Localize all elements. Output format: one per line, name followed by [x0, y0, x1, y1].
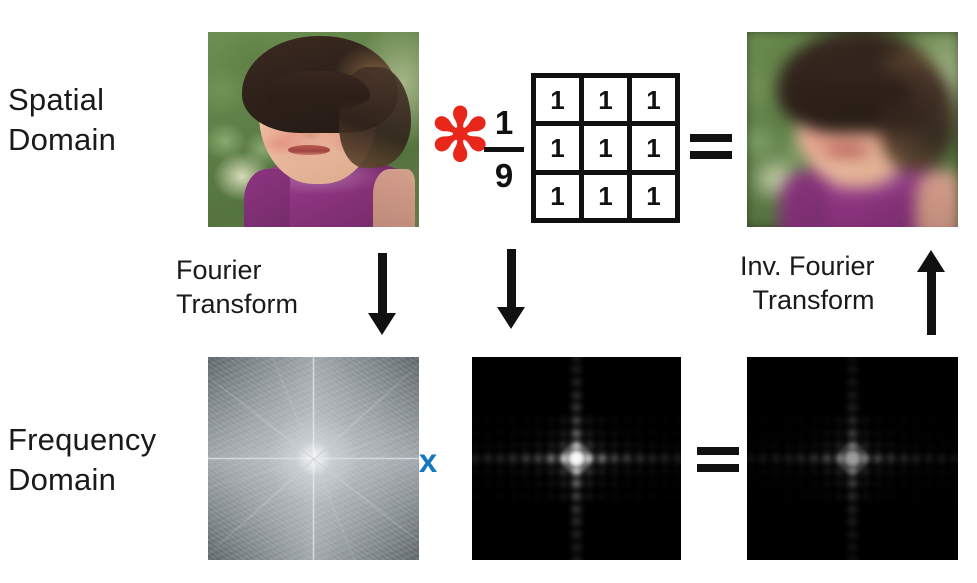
sinc-lobe [848, 417, 857, 424]
sinc-lobe [836, 480, 843, 487]
sinc-lobe [484, 417, 491, 424]
photo-mouth [826, 146, 871, 156]
sinc-lobe [598, 442, 605, 449]
sinc-lobe [951, 480, 958, 487]
photo-render [208, 32, 419, 227]
sinc-lobe [661, 454, 669, 464]
sinc-lobe [572, 357, 581, 361]
sinc-lobe [951, 430, 958, 437]
sinc-lobe [926, 493, 933, 500]
image-input-spectrum [208, 357, 419, 560]
sinc-lobe [848, 379, 857, 386]
sinc-lobe [875, 430, 882, 437]
arrow-shaft [927, 269, 936, 335]
sinc-lobe [662, 480, 669, 487]
sinc-lobe [887, 480, 894, 487]
sinc-lobe [572, 392, 581, 399]
sinc-lobe [611, 468, 618, 475]
sinc-lobe [497, 454, 505, 464]
sinc-lobe [785, 480, 792, 487]
sinc-lobe [772, 417, 779, 424]
sinc-lobe [747, 468, 754, 475]
sinc-lobe [926, 480, 933, 487]
fraction-bar [484, 147, 524, 152]
sinc-lobe [636, 480, 643, 487]
sinc-lobe [662, 417, 669, 424]
sinc-lobe [823, 442, 830, 449]
arrow-head [917, 250, 945, 272]
sinc-lobe [497, 493, 504, 500]
sinc-lobe [510, 468, 517, 475]
sinc-lobe [572, 379, 581, 386]
sinc-lobe [484, 480, 491, 487]
sinc-lobe [760, 468, 767, 475]
sinc-lobe [811, 480, 818, 487]
sinc-lobe [823, 454, 831, 464]
sinc-lobe [939, 493, 946, 500]
sinc-lobe [662, 442, 669, 449]
sinc-lobe [611, 480, 618, 487]
sinc-lobe [760, 430, 767, 437]
equals-sign-frequency [697, 447, 739, 473]
sinc-lobe [510, 480, 517, 487]
sinc-lobe [823, 417, 830, 424]
sinc-lobe [611, 442, 618, 449]
sinc-lobe [887, 442, 894, 449]
sinc-lobe [848, 531, 857, 538]
sinc-lobe [510, 493, 517, 500]
sinc-lobe [900, 493, 907, 500]
sinc-lobe [848, 366, 857, 373]
sinc-lobe [649, 468, 656, 475]
sinc-lobe [875, 468, 882, 475]
sinc-lobe [674, 442, 681, 449]
sinc-lobe [472, 493, 479, 500]
sinc-lobe [848, 468, 857, 475]
sinc-lobe [785, 468, 792, 475]
sinc-lobe [586, 493, 593, 500]
sinc-lobe [939, 442, 946, 449]
sinc-lobe [823, 430, 830, 437]
fraction-denominator: 9 [495, 157, 513, 195]
sinc-lobe [848, 442, 857, 449]
sinc-lobe [810, 454, 818, 464]
sinc-lobe [560, 442, 567, 449]
sinc-lobe [522, 454, 530, 464]
sinc-lobe [548, 468, 555, 475]
sinc-lobe [848, 404, 857, 411]
sinc-lobe [598, 454, 606, 464]
photo-bangs [265, 71, 371, 110]
sinc-lobe [913, 442, 920, 449]
kernel-scalar-fraction: 1 9 [483, 79, 525, 219]
sinc-lobe [913, 493, 920, 500]
sinc-lobe [926, 442, 933, 449]
sinc-lobe [548, 493, 555, 500]
sinc-lobe [636, 417, 643, 424]
sinc-lobe [484, 493, 491, 500]
sinc-lobe [611, 493, 618, 500]
convolution-asterisk-icon: ✻ [430, 108, 476, 164]
sinc-lobe [939, 480, 946, 487]
sinc-lobe [586, 480, 593, 487]
sinc-lobe [484, 442, 491, 449]
sinc-lobe [900, 454, 908, 464]
sinc-lobe [572, 544, 581, 551]
sinc-lobe [572, 531, 581, 538]
sinc-lobe [472, 430, 479, 437]
sinc-lobe [624, 493, 631, 500]
sinc-lobe [900, 430, 907, 437]
sinc-lobe [535, 442, 542, 449]
sinc-lobe [900, 468, 907, 475]
arrow-down-fourier-transform [366, 253, 398, 335]
sinc-lobe [862, 430, 869, 437]
sinc-lobe [572, 556, 581, 560]
equals-bar [690, 151, 732, 159]
sinc-lobe [798, 430, 805, 437]
sinc-lobe [560, 480, 567, 487]
sinc-lobe [611, 430, 618, 437]
sinc-lobe [875, 493, 882, 500]
sinc-lobe [747, 442, 754, 449]
sinc-lobe [862, 480, 869, 487]
sinc-lobe [662, 430, 669, 437]
sinc-lobe [951, 454, 958, 464]
sinc-lobe [913, 480, 920, 487]
sinc-lobe [836, 430, 843, 437]
sinc-lobe [572, 493, 581, 500]
sinc-lobe [522, 430, 529, 437]
sinc-lobe [598, 493, 605, 500]
sinc-lobe [624, 430, 631, 437]
sinc-lobe [811, 493, 818, 500]
kernel-cell: 1 [632, 175, 675, 218]
multiplication-x-icon: x [408, 444, 448, 478]
spectrum-render [208, 357, 419, 560]
sinc-lobe [623, 454, 631, 464]
photo-shoulder [244, 169, 290, 228]
sinc-lobe [798, 442, 805, 449]
sinc-lobe [636, 430, 643, 437]
sinc-lobe [939, 468, 946, 475]
sinc-lobe [875, 442, 882, 449]
sinc-lobe [674, 454, 681, 464]
sinc-lobe [636, 442, 643, 449]
sinc-lobe [811, 430, 818, 437]
sinc-lobe [848, 506, 857, 513]
sinc-render [472, 357, 681, 560]
sinc-lobe [785, 430, 792, 437]
sinc-lobe [674, 430, 681, 437]
sinc-lobe [560, 468, 567, 475]
sinc-lobe [951, 468, 958, 475]
sinc-lobe [535, 480, 542, 487]
sinc-lobe [862, 417, 869, 424]
sinc-lobe [848, 544, 857, 551]
sinc-lobe [848, 430, 857, 437]
sinc-lobe [823, 480, 830, 487]
sinc-lobe [522, 417, 529, 424]
sinc-lobe [662, 493, 669, 500]
caption-inverse-fourier-transform: Inv. Fourier Transform [740, 249, 875, 317]
sinc-lobe [636, 468, 643, 475]
sinc-lobe [798, 468, 805, 475]
arrow-down-kernel-transform [495, 249, 527, 329]
sinc-lobe [798, 417, 805, 424]
sinc-lobe [649, 480, 656, 487]
sinc-lobe [572, 417, 581, 424]
sinc-lobe [624, 468, 631, 475]
sinc-lobe [925, 454, 933, 464]
sinc-lobe [674, 468, 681, 475]
photo-bangs [801, 67, 913, 108]
sinc-lobe [913, 417, 920, 424]
sinc-lobe [747, 430, 754, 437]
sinc-lobe [624, 442, 631, 449]
kernel-cell: 1 [536, 78, 579, 121]
sinc-lobe [939, 417, 946, 424]
sinc-lobe [900, 442, 907, 449]
sinc-lobe [560, 454, 568, 464]
sinc-lobe [636, 493, 643, 500]
kernel-matrix: 1 1 1 1 1 1 1 1 1 [531, 73, 680, 223]
kernel-cell: 1 [632, 78, 675, 121]
sinc-lobe [624, 480, 631, 487]
sinc-lobe [472, 468, 479, 475]
sinc-lobe [811, 417, 818, 424]
sinc-lobe [572, 366, 581, 373]
sinc-lobe [848, 556, 857, 560]
sinc-lobe [760, 417, 767, 424]
sinc-lobe [811, 442, 818, 449]
sinc-lobe [497, 430, 504, 437]
sinc-lobe [951, 417, 958, 424]
sinc-lobe [772, 442, 779, 449]
sinc-lobe [861, 454, 869, 464]
sinc-lobe [772, 430, 779, 437]
photo-arm [915, 171, 958, 227]
arrow-head [368, 313, 396, 335]
sinc-lobe [510, 442, 517, 449]
sinc-lobe [510, 417, 517, 424]
sinc-lobe [484, 454, 492, 464]
kernel-cell: 1 [536, 175, 579, 218]
spectrum-streak [208, 417, 419, 500]
sinc-lobe [772, 468, 779, 475]
sinc-lobe [624, 417, 631, 424]
kernel-cell: 1 [584, 175, 627, 218]
sinc-lobe [926, 417, 933, 424]
photo-arm [373, 169, 415, 228]
sinc-lobe [472, 480, 479, 487]
photo-render-blurred [747, 32, 958, 227]
diagram-canvas: Spatial Domain Frequency Domain ✻ 1 [0, 0, 977, 583]
equals-bar [697, 447, 739, 455]
sinc-lobe [484, 430, 491, 437]
sinc-lobe [674, 493, 681, 500]
sinc-lobe [875, 480, 882, 487]
sinc-lobe [926, 468, 933, 475]
sinc-lobe [900, 417, 907, 424]
sinc-lobe [497, 442, 504, 449]
sinc-lobe [900, 480, 907, 487]
sinc-lobe [572, 506, 581, 513]
sinc-lobe [522, 442, 529, 449]
sinc-lobe [887, 417, 894, 424]
sinc-lobe [926, 430, 933, 437]
sinc-lobe [848, 392, 857, 399]
sinc-lobe [912, 454, 920, 464]
sinc-lobe [560, 493, 567, 500]
sinc-lobe [649, 454, 657, 464]
sinc-lobe [785, 417, 792, 424]
equals-bar [690, 134, 732, 142]
sinc-lobe [848, 480, 857, 487]
sinc-lobe [772, 493, 779, 500]
sinc-lobe [785, 442, 792, 449]
sinc-lobe [674, 417, 681, 424]
sinc-lobe [548, 442, 555, 449]
sinc-lobe [811, 468, 818, 475]
sinc-lobe [484, 468, 491, 475]
sinc-lobe [649, 417, 656, 424]
sinc-lobe [823, 493, 830, 500]
sinc-lobe [848, 518, 857, 525]
sinc-lobe [836, 454, 844, 464]
sinc-lobe [572, 518, 581, 525]
sinc-lobe [636, 454, 644, 464]
sinc-lobe [548, 417, 555, 424]
sinc-lobe [586, 430, 593, 437]
sinc-lobe [547, 454, 555, 464]
sinc-lobe [572, 404, 581, 411]
sinc-lobe [862, 493, 869, 500]
sinc-lobe [938, 454, 946, 464]
sinc-lobe [598, 468, 605, 475]
sinc-lobe [747, 454, 754, 464]
sinc-lobe [522, 468, 529, 475]
sinc-lobe [472, 442, 479, 449]
image-output-photo [747, 32, 958, 227]
sinc-lobe [572, 430, 581, 437]
sinc-lobe [836, 442, 843, 449]
sinc-lobe [662, 468, 669, 475]
sinc-lobe [785, 493, 792, 500]
sinc-lobe [848, 493, 857, 500]
sinc-lobe [674, 480, 681, 487]
sinc-lobe [598, 430, 605, 437]
sinc-lobe [913, 468, 920, 475]
sinc-lobe [887, 430, 894, 437]
sinc-lobe [939, 430, 946, 437]
image-input-photo [208, 32, 419, 227]
sinc-lobe [649, 493, 656, 500]
sinc-lobe [535, 493, 542, 500]
sinc-render [747, 357, 958, 560]
sinc-lobe [522, 493, 529, 500]
sinc-lobe [887, 493, 894, 500]
row-label-frequency-domain: Frequency Domain [8, 420, 156, 500]
sinc-lobe [887, 468, 894, 475]
sinc-lobe [548, 480, 555, 487]
sinc-lobe [611, 417, 618, 424]
sinc-lobe [535, 430, 542, 437]
sinc-lobe [798, 493, 805, 500]
sinc-lobe [836, 468, 843, 475]
sinc-lobe [951, 442, 958, 449]
sinc-lobe [497, 417, 504, 424]
sinc-lobe [649, 442, 656, 449]
sinc-lobe [785, 454, 793, 464]
sinc-lobe [598, 417, 605, 424]
sinc-lobe [572, 468, 581, 475]
sinc-lobe [497, 468, 504, 475]
sinc-lobe [875, 417, 882, 424]
sinc-lobe [747, 480, 754, 487]
fraction-numerator: 1 [495, 104, 513, 142]
kernel-cell: 1 [584, 78, 627, 121]
sinc-lobe [887, 454, 895, 464]
sinc-lobe [585, 454, 593, 464]
equals-sign-spatial [690, 134, 732, 160]
kernel-cell: 1 [632, 126, 675, 169]
sinc-lobe [510, 430, 517, 437]
sinc-lobe [586, 468, 593, 475]
sinc-lobe [497, 480, 504, 487]
sinc-lobe [772, 480, 779, 487]
arrow-shaft [378, 253, 387, 316]
sinc-lobe [874, 454, 882, 464]
sinc-lobe [535, 468, 542, 475]
sinc-lobe [522, 480, 529, 487]
sinc-lobe [586, 442, 593, 449]
sinc-lobe [535, 454, 543, 464]
arrow-head [497, 307, 525, 329]
sinc-lobe [913, 430, 920, 437]
sinc-lobe [772, 454, 780, 464]
sinc-lobe [747, 493, 754, 500]
sinc-lobe [560, 417, 567, 424]
sinc-lobe [823, 468, 830, 475]
sinc-lobe [760, 480, 767, 487]
sinc-lobe [951, 493, 958, 500]
sinc-lobe [598, 480, 605, 487]
kernel-cell: 1 [584, 126, 627, 169]
sinc-lobe [548, 430, 555, 437]
sinc-lobe [560, 430, 567, 437]
equals-bar [697, 464, 739, 472]
sinc-lobe [760, 493, 767, 500]
sinc-lobe [572, 480, 581, 487]
sinc-lobe [586, 417, 593, 424]
caption-fourier-transform: Fourier Transform [176, 253, 298, 321]
image-output-spectrum [747, 357, 958, 560]
sinc-lobe [509, 454, 517, 464]
photo-mouth [288, 145, 330, 155]
sinc-lobe [798, 480, 805, 487]
sinc-lobe [649, 430, 656, 437]
arrow-up-inverse-fourier-transform [915, 250, 947, 335]
sinc-lobe [611, 454, 619, 464]
sinc-lobe [797, 454, 805, 464]
sinc-lobe [848, 357, 857, 361]
image-kernel-spectrum [472, 357, 681, 560]
sinc-lobe [572, 442, 581, 449]
sinc-lobe [862, 468, 869, 475]
sinc-lobe [862, 442, 869, 449]
sinc-lobe [836, 493, 843, 500]
